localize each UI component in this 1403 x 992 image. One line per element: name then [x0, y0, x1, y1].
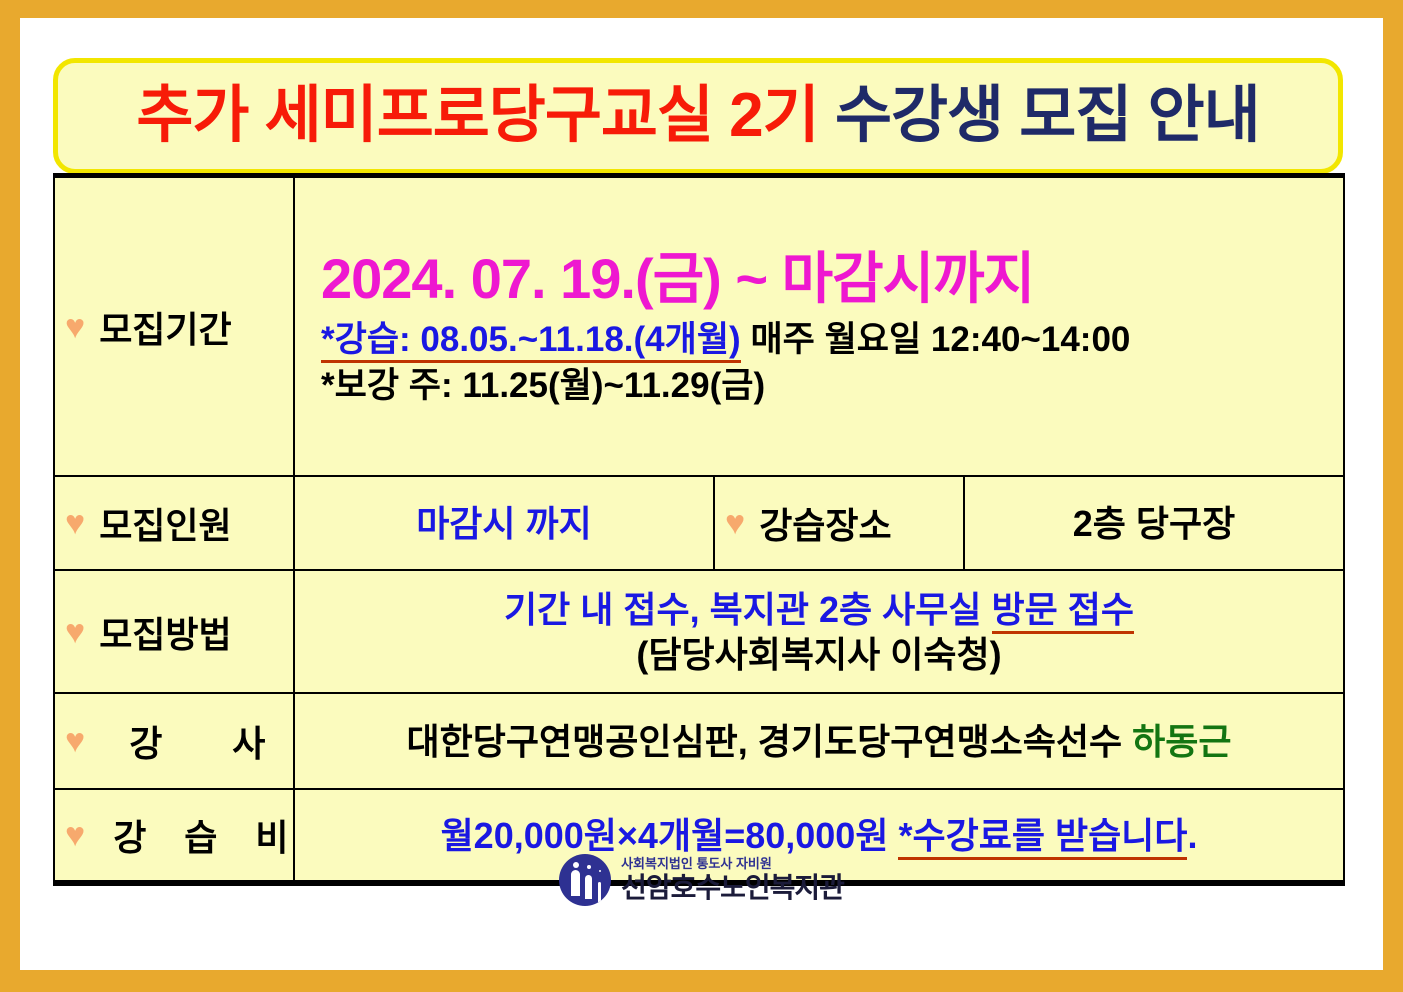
info-table: ♥ 모집기간 2024. 07. 19.(금) ~ 마감시까지 *강습: 08.… [53, 173, 1345, 886]
row-label-text: 강습장소 [759, 497, 891, 549]
poster-frame: 추가 세미프로당구교실 2기 수강생 모집 안내 ♥ 모집기간 [0, 0, 1403, 992]
row-value-cell-place: 2층 당구장 [964, 476, 1344, 570]
place-value: 2층 당구장 [1073, 503, 1236, 544]
row-label-text: 모집기간 [99, 301, 231, 353]
row-value-cell-instructor: 대한당구연맹공인심판, 경기도당구연맹소속선수 하동근 [294, 693, 1344, 789]
heart-icon: ♥ [65, 724, 115, 758]
course-schedule-line: *강습: 08.05.~11.18.(4개월) 매주 월요일 12:40~14:… [321, 318, 1333, 362]
heart-icon: ♥ [65, 615, 85, 649]
instructor-credentials: 대한당구연맹공인심판, 경기도당구연맹소속선수 [407, 721, 1133, 762]
fee-note-tail: . [1187, 815, 1197, 856]
welfare-center-logo-icon [559, 854, 611, 906]
method-line-1: 기간 내 접수, 복지관 2층 사무실 방문 접수 [305, 587, 1333, 632]
instructor-line: 대한당구연맹공인심판, 경기도당구연맹소속선수 하동근 [407, 721, 1232, 762]
row-label-cell-period: ♥ 모집기간 [54, 176, 294, 477]
heart-icon: ♥ [65, 506, 85, 540]
row-label-cell-place: ♥ 강습장소 [714, 476, 964, 570]
footer-org-sub: 사회복지법인 통도사 자비원 [621, 857, 844, 871]
title-part-red: 추가 세미프로당구교실 2기 [136, 81, 818, 150]
poster-sheet: 추가 세미프로당구교실 2기 수강생 모집 안내 ♥ 모집기간 [20, 18, 1383, 970]
row-label-cell-method: ♥ 모집방법 [54, 570, 294, 693]
footer-org-name: 선암호수노인복지관 [621, 873, 844, 902]
footer-org-block: 사회복지법인 통도사 자비원 선암호수노인복지관 [621, 857, 844, 902]
row-label-instructor: ♥ 강 사 [65, 715, 293, 767]
row-value-cell-method: 기간 내 접수, 복지관 2층 사무실 방문 접수 (담당사회복지사 이숙청) [294, 570, 1344, 693]
fee-line: 월20,000원×4개월=80,000원 *수강료를 받습니다. [441, 815, 1198, 860]
poster-title-banner: 추가 세미프로당구교실 2기 수강생 모집 안내 [53, 58, 1343, 174]
makeup-week-line: *보강 주: 11.25(월)~11.29(금) [321, 364, 1333, 408]
row-label-method: ♥ 모집방법 [65, 606, 293, 658]
row-label-text: 강 사 [129, 715, 295, 767]
method-line-2: (담당사회복지사 이숙청) [305, 632, 1333, 677]
row-label-text: 모집인원 [99, 497, 231, 549]
fee-note: *수강료를 받습니다 [898, 815, 1187, 860]
row-label-cell-capacity: ♥ 모집인원 [54, 476, 294, 570]
fee-amount: 월20,000원×4개월=80,000원 [441, 815, 899, 856]
heart-icon: ♥ [65, 818, 99, 852]
course-weekly-time: 매주 월요일 12:40~14:00 [750, 320, 1130, 359]
footer-logo: 사회복지법인 통도사 자비원 선암호수노인복지관 [20, 854, 1383, 906]
method-text-main: 기간 내 접수, 복지관 2층 사무실 [504, 589, 991, 630]
title-part-navy: 수강생 모집 안내 [835, 81, 1260, 150]
table-row-period: ♥ 모집기간 2024. 07. 19.(금) ~ 마감시까지 *강습: 08.… [54, 176, 1344, 477]
method-text-visit: 방문 접수 [992, 589, 1134, 634]
row-label-capacity: ♥ 모집인원 [65, 497, 293, 549]
course-dates: *강습: 08.05.~11.18.(4개월) [321, 320, 741, 363]
row-label-text: 모집방법 [99, 606, 231, 658]
page-title: 추가 세미프로당구교실 2기 수강생 모집 안내 [136, 85, 1259, 147]
heart-icon: ♥ [725, 506, 745, 540]
table-row-method: ♥ 모집방법 기간 내 접수, 복지관 2층 사무실 방문 접수 (담당사회복지… [54, 570, 1344, 693]
table-row-instructor: ♥ 강 사 대한당구연맹공인심판, 경기도당구연맹소속선수 하동근 [54, 693, 1344, 789]
row-label-cell-instructor: ♥ 강 사 [54, 693, 294, 789]
row-label-place: ♥ 강습장소 [725, 497, 963, 549]
instructor-name: 하동근 [1132, 721, 1231, 762]
table-row-capacity: ♥ 모집인원 마감시 까지 ♥ 강습장소 2층 당구장 [54, 476, 1344, 570]
capacity-value: 마감시 까지 [416, 503, 592, 544]
row-label-period: ♥ 모집기간 [65, 301, 293, 353]
heart-icon: ♥ [65, 310, 85, 344]
row-value-cell-capacity: 마감시 까지 [294, 476, 714, 570]
recruit-period-headline: 2024. 07. 19.(금) ~ 마감시까지 [321, 244, 1333, 314]
row-value-cell-period: 2024. 07. 19.(금) ~ 마감시까지 *강습: 08.05.~11.… [294, 176, 1344, 477]
